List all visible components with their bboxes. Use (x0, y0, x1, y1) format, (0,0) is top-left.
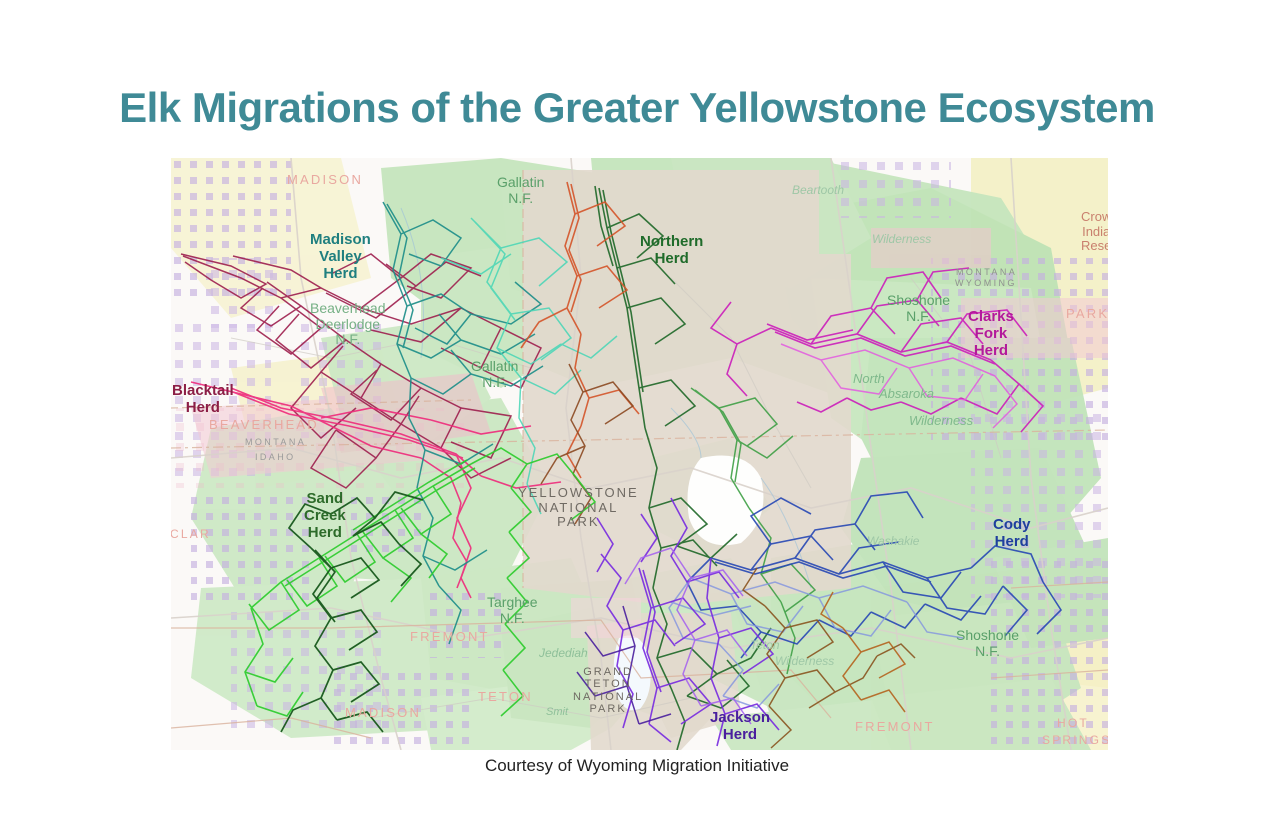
map-caption: Courtesy of Wyoming Migration Initiative (0, 756, 1274, 776)
page-title: Elk Migrations of the Greater Yellowston… (0, 84, 1274, 132)
map-canvas (171, 158, 1108, 750)
map-figure: Madison Valley HerdBlacktail HerdNorther… (171, 158, 1108, 750)
